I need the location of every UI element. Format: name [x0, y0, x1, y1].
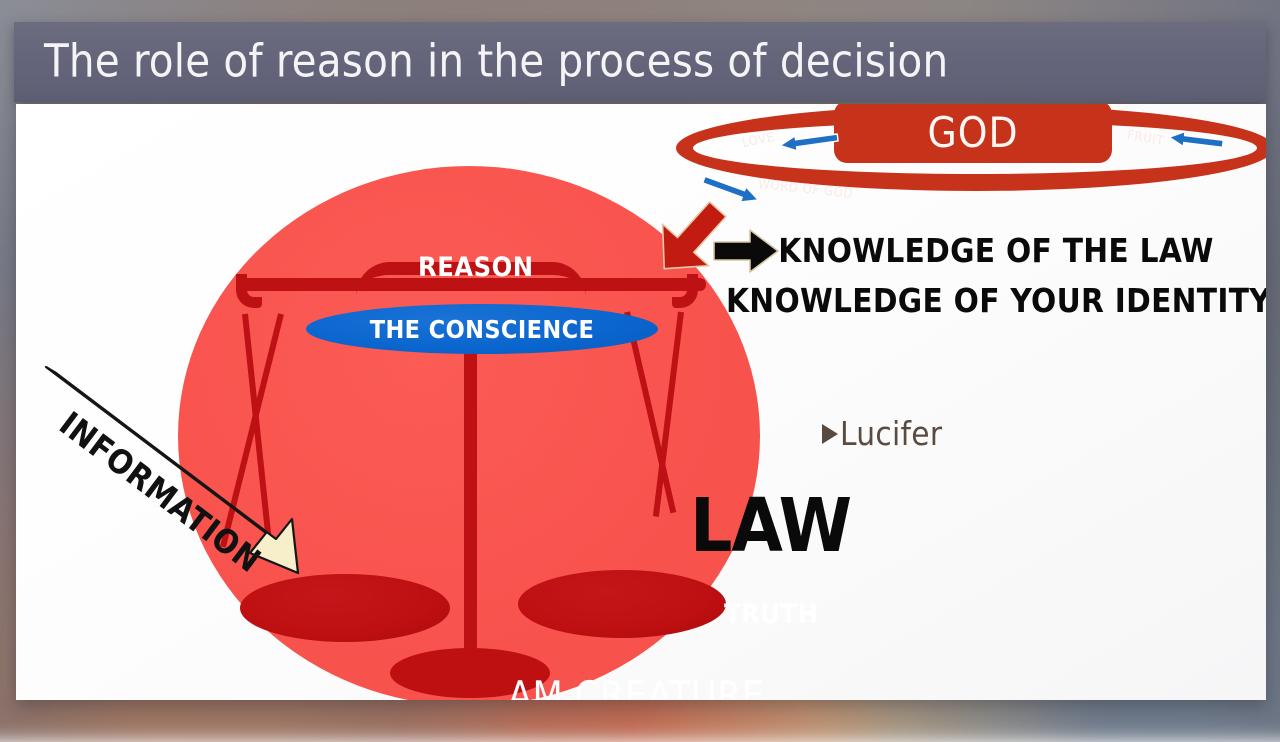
am-creature-label: AM CREATURE	[508, 674, 765, 700]
arrow-left-icon-fruit	[1167, 133, 1225, 149]
list-item-lucifer: Lucifer	[822, 414, 942, 453]
law-label: LAW	[690, 489, 851, 563]
reason-label: REASON	[418, 252, 534, 283]
lucifer-label: Lucifer	[840, 414, 942, 453]
triangle-bullet-icon	[822, 424, 838, 444]
presentation-slide: The role of reason in the process of dec…	[0, 0, 1280, 720]
scale-pan-left	[240, 574, 450, 642]
knowledge-line-1: KNOWLEDGE OF THE LAW	[726, 226, 1266, 276]
god-box: GOD	[834, 104, 1112, 163]
slide-title-bar: The role of reason in the process of dec…	[14, 22, 1266, 102]
arrow-left-icon-love	[778, 134, 840, 150]
god-cycle-diagram: GOD LOVE WORD OF GOD FRUIT	[662, 104, 1266, 211]
truth-label: TRUTH	[724, 599, 818, 630]
knowledge-line-2: KNOWLEDGE OF YOUR IDENTITY	[726, 276, 1266, 326]
scale-post	[464, 338, 477, 660]
god-label: GOD	[834, 104, 1112, 163]
scale-pan-right	[518, 570, 726, 638]
scale-hook-left	[236, 274, 262, 308]
conscience-label: THE CONSCIENCE	[306, 304, 658, 354]
conscience-ellipse: THE CONSCIENCE	[306, 304, 658, 354]
knowledge-text-block: KNOWLEDGE OF THE LAW KNOWLEDGE OF YOUR I…	[726, 226, 1266, 326]
slide-body: GOD LOVE WORD OF GOD FRUIT	[16, 104, 1266, 700]
page-title: The role of reason in the process of dec…	[44, 34, 948, 87]
